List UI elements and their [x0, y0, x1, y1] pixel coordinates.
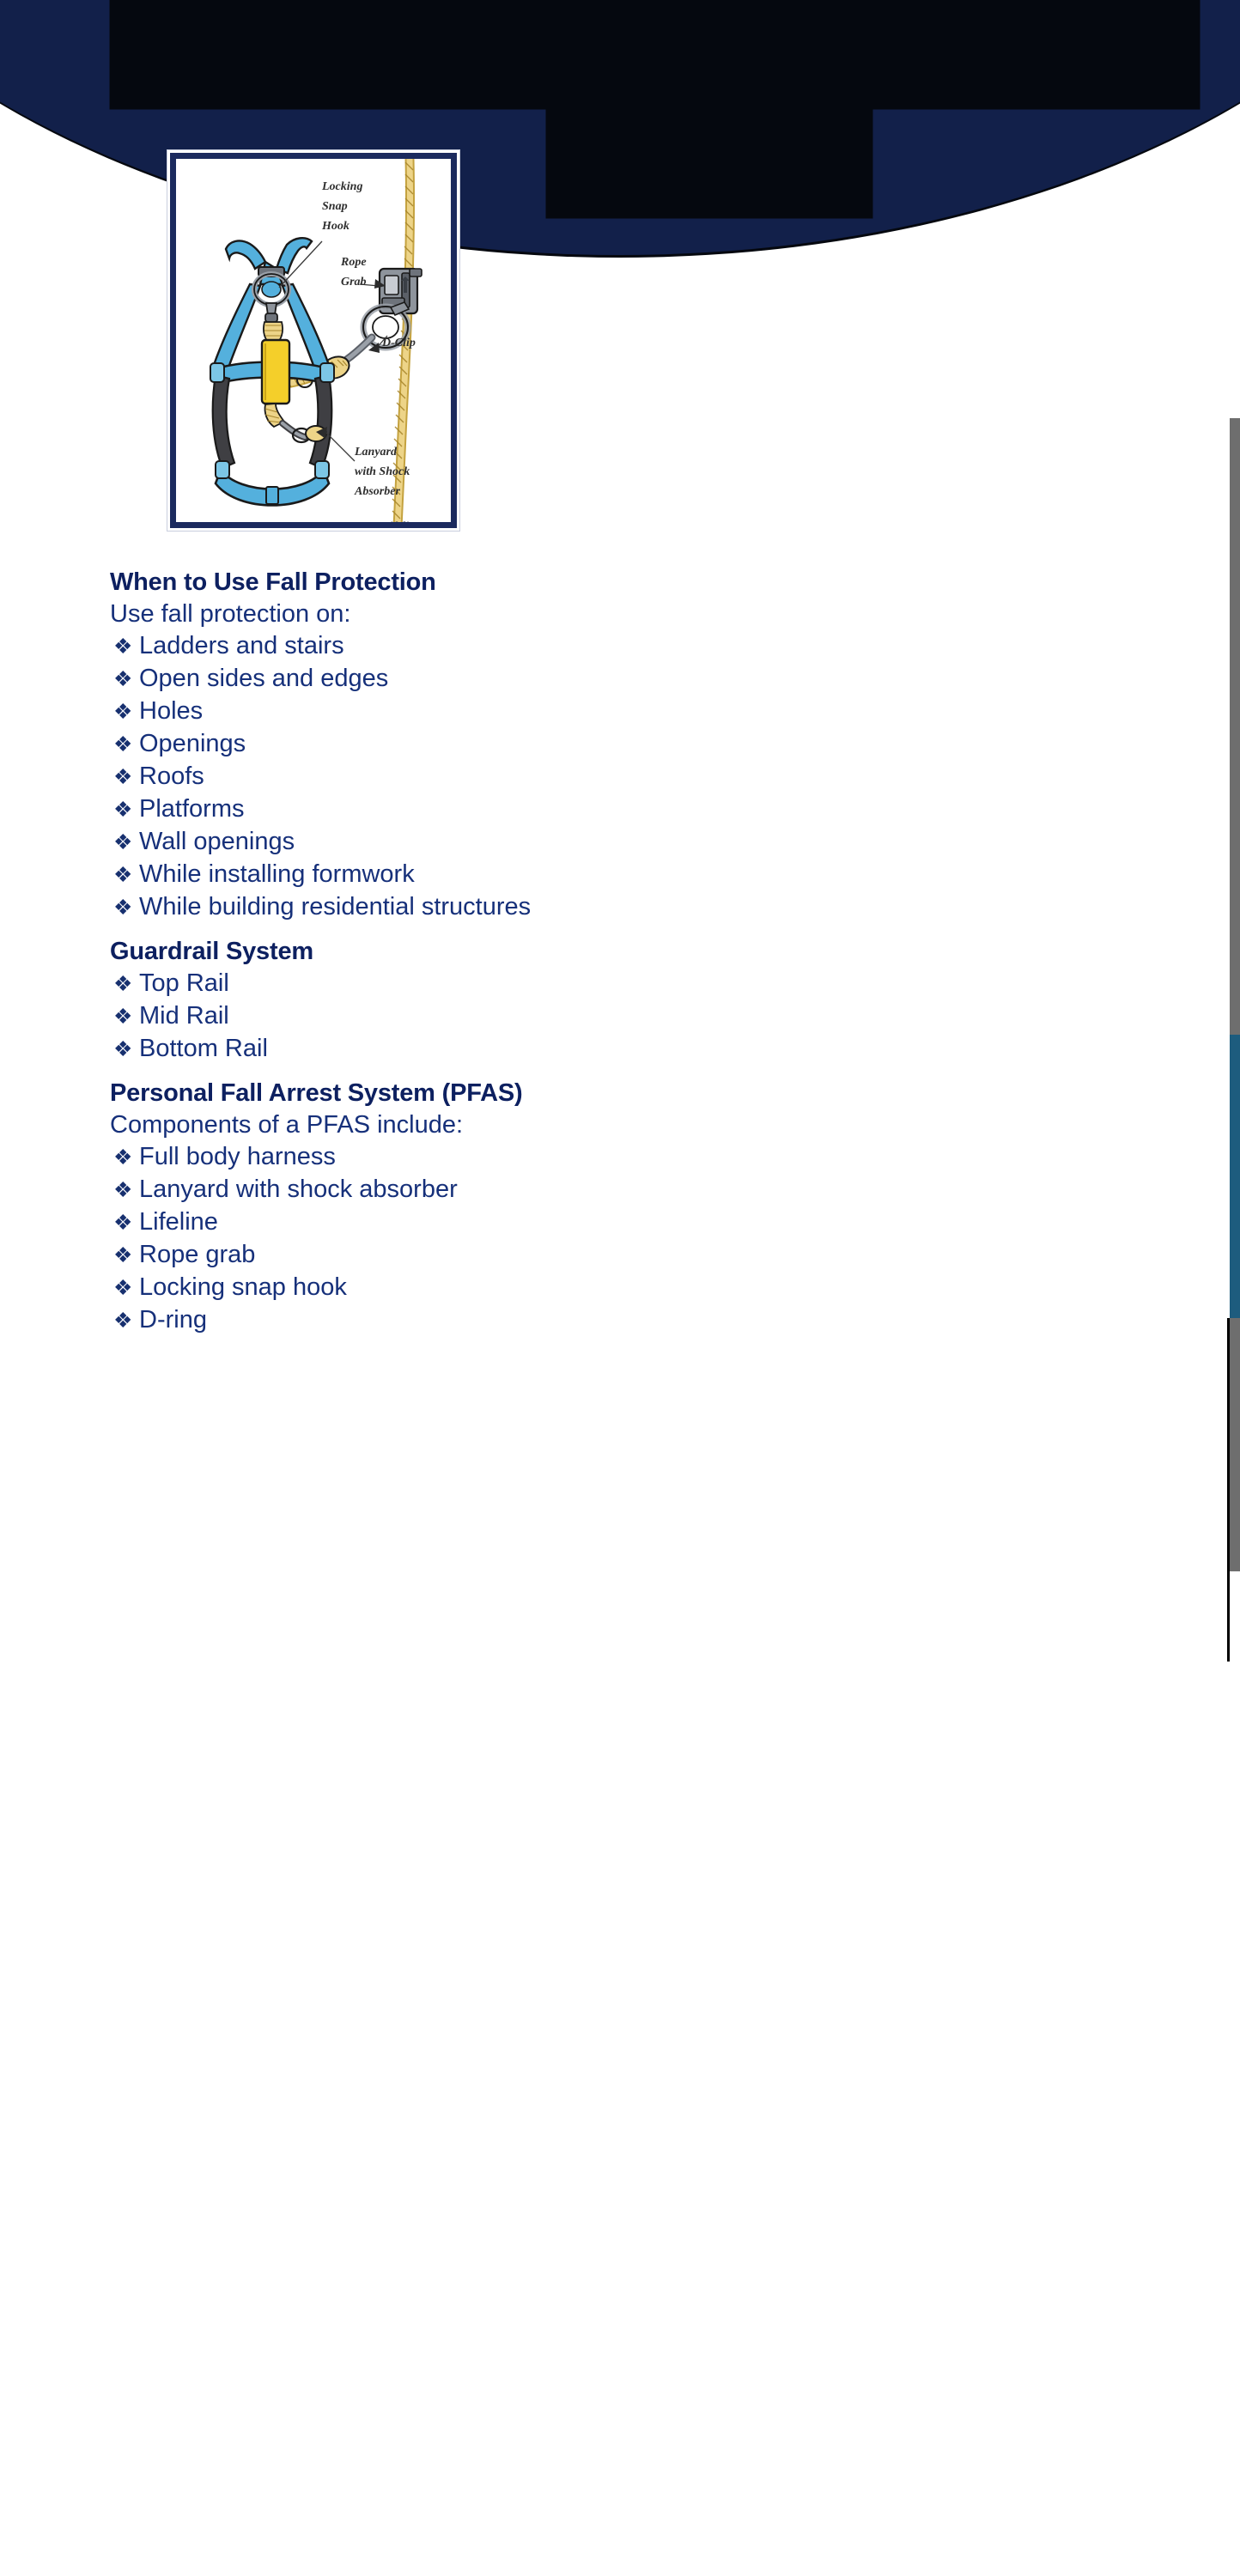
section-heading: Personal Fall Arrest System (PFAS) — [110, 1078, 1123, 1109]
list-item-label: Lifeline — [139, 1206, 218, 1238]
harness-diagram: Locking Snap Hook Rope Grab D-Clip Lanya… — [176, 159, 456, 527]
list-item[interactable]: ❖Openings — [110, 728, 1123, 761]
right-edge-gray-bar[interactable] — [1230, 418, 1240, 1571]
diamond-bullet-icon: ❖ — [110, 664, 139, 696]
list-item-label: Holes — [139, 696, 203, 727]
list-item-label: Top Rail — [139, 968, 229, 999]
diamond-bullet-icon: ❖ — [110, 762, 139, 793]
list-item-label: Roofs — [139, 761, 204, 793]
right-edge-divider — [1227, 1318, 1230, 1662]
slide-content: When to Use Fall Protection Use fall pro… — [110, 567, 1123, 1337]
label-lifeline: Lifeline — [381, 520, 421, 527]
label-lanyard: Lanyard — [354, 446, 398, 459]
diamond-bullet-icon: ❖ — [110, 1273, 139, 1304]
section-lead: Use fall protection on: — [110, 598, 1123, 630]
list-item-label: Wall openings — [139, 826, 295, 858]
diamond-bullet-icon: ❖ — [110, 1001, 139, 1033]
list-item[interactable]: ❖While building residential structures — [110, 891, 1123, 924]
diamond-bullet-icon: ❖ — [110, 1305, 139, 1337]
list-item[interactable]: ❖Holes — [110, 696, 1123, 728]
list-item[interactable]: ❖Open sides and edges — [110, 663, 1123, 696]
list-item-label: While building residential structures — [139, 891, 531, 923]
list-item[interactable]: ❖While installing formwork — [110, 859, 1123, 891]
label-absorber: Absorber — [354, 485, 400, 498]
list-item-label: Full body harness — [139, 1141, 336, 1173]
fall-protection-illustration-card: Locking Snap Hook Rope Grab D-Clip Lanya… — [167, 150, 459, 531]
diamond-bullet-icon: ❖ — [110, 794, 139, 826]
list-item[interactable]: ❖Locking snap hook — [110, 1272, 1123, 1304]
list-item-label: Rope grab — [139, 1239, 255, 1271]
list-item[interactable]: ❖D-ring — [110, 1304, 1123, 1337]
list-item[interactable]: ❖Lanyard with shock absorber — [110, 1174, 1123, 1206]
diamond-bullet-icon: ❖ — [110, 696, 139, 728]
diamond-bullet-icon: ❖ — [110, 892, 139, 924]
label-d-clip: D-Clip — [381, 337, 416, 349]
section-pfas: Personal Fall Arrest System (PFAS) Compo… — [110, 1078, 1123, 1337]
diamond-bullet-icon: ❖ — [110, 1175, 139, 1206]
bullet-list-when-to-use: ❖Ladders and stairs ❖Open sides and edge… — [110, 630, 1123, 924]
list-item-label: D-ring — [139, 1304, 207, 1336]
spacer — [110, 924, 1123, 936]
list-item[interactable]: ❖Bottom Rail — [110, 1033, 1123, 1066]
section-heading: Guardrail System — [110, 936, 1123, 968]
label-hook: Hook — [321, 220, 350, 233]
list-item[interactable]: ❖Full body harness — [110, 1141, 1123, 1174]
list-item-label: Lanyard with shock absorber — [139, 1174, 458, 1206]
section-lead: Components of a PFAS include: — [110, 1109, 1123, 1141]
diamond-bullet-icon: ❖ — [110, 1240, 139, 1272]
list-item[interactable]: ❖Platforms — [110, 793, 1123, 826]
list-item-label: Bottom Rail — [139, 1033, 268, 1065]
bullet-list-pfas: ❖Full body harness ❖Lanyard with shock a… — [110, 1141, 1123, 1337]
list-item[interactable]: ❖Wall openings — [110, 826, 1123, 859]
list-item-label: Ladders and stairs — [139, 630, 344, 662]
section-when-to-use: When to Use Fall Protection Use fall pro… — [110, 567, 1123, 924]
diamond-bullet-icon: ❖ — [110, 969, 139, 1000]
list-item[interactable]: ❖Lifeline — [110, 1206, 1123, 1239]
list-item-label: Mid Rail — [139, 1000, 229, 1032]
list-item-label: Platforms — [139, 793, 244, 825]
label-locking: Locking — [321, 180, 362, 193]
illustration-frame: Locking Snap Hook Rope Grab D-Clip Lanya… — [170, 153, 457, 528]
bullet-list-guardrail: ❖Top Rail ❖Mid Rail ❖Bottom Rail — [110, 968, 1123, 1066]
list-item[interactable]: ❖Ladders and stairs — [110, 630, 1123, 663]
diamond-bullet-icon: ❖ — [110, 860, 139, 891]
section-heading: When to Use Fall Protection — [110, 567, 1123, 598]
diamond-bullet-icon: ❖ — [110, 1142, 139, 1174]
label-with-shock: with Shock — [355, 465, 410, 478]
label-grab: Grab — [341, 276, 367, 289]
diamond-bullet-icon: ❖ — [110, 827, 139, 859]
list-item-label: Openings — [139, 728, 246, 760]
list-item-label: Open sides and edges — [139, 663, 388, 695]
list-item[interactable]: ❖Mid Rail — [110, 1000, 1123, 1033]
diamond-bullet-icon: ❖ — [110, 1034, 139, 1066]
section-guardrail-system: Guardrail System ❖Top Rail ❖Mid Rail ❖Bo… — [110, 936, 1123, 1066]
list-item-label: Locking snap hook — [139, 1272, 347, 1303]
list-item-label: While installing formwork — [139, 859, 415, 890]
diamond-bullet-icon: ❖ — [110, 729, 139, 761]
diamond-bullet-icon: ❖ — [110, 631, 139, 663]
right-edge-teal-bar[interactable] — [1230, 1035, 1240, 1318]
list-item[interactable]: ❖Rope grab — [110, 1239, 1123, 1272]
label-rope: Rope — [340, 256, 367, 269]
list-item[interactable]: ❖Roofs — [110, 761, 1123, 793]
diamond-bullet-icon: ❖ — [110, 1207, 139, 1239]
label-snap: Snap — [322, 200, 348, 213]
list-item[interactable]: ❖Top Rail — [110, 968, 1123, 1000]
spacer — [110, 1066, 1123, 1078]
